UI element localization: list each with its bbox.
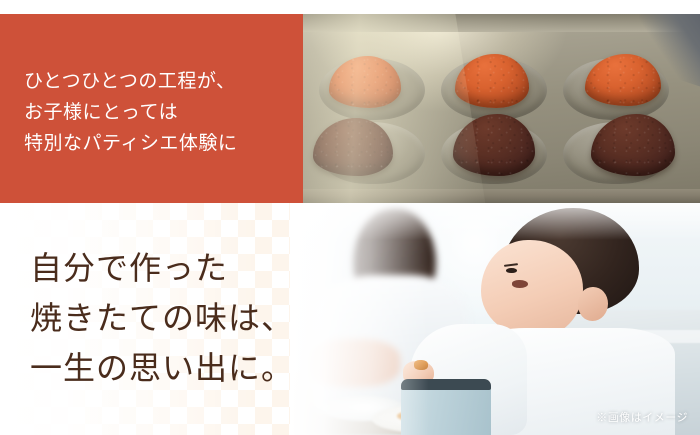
- copy-line-3: 特別なパティシエ体験に: [24, 128, 295, 159]
- copy-line-2: お子様にとっては: [24, 97, 295, 128]
- boy-face: [481, 240, 583, 337]
- boy-ear: [578, 287, 609, 322]
- madeleine-baking-tray-photo: [303, 14, 700, 203]
- headline-line-3: 一生の思い出に。: [30, 343, 330, 393]
- copy-panel-text-block: ひとつひとつの工程が、 お子様にとっては 特別なパティシエ体験に: [24, 66, 295, 159]
- boy-eating-madeleine-photo: [290, 203, 700, 435]
- copy-line-1: ひとつひとつの工程が、: [24, 66, 295, 97]
- boy-mouth: [512, 280, 528, 288]
- promo-banner: ひとつひとつの工程が、 お子様にとっては 特別なパティシエ体験に 自分で作った …: [0, 0, 700, 435]
- orange-copy-panel: ひとつひとつの工程が、 お子様にとっては 特別なパティシエ体験に: [0, 14, 303, 203]
- headline-line-2: 焼きたての味は、: [30, 293, 330, 343]
- boy-eyebrow: [504, 264, 518, 268]
- headline-block: 自分で作った 焼きたての味は、 一生の思い出に。: [30, 243, 330, 393]
- headline-line-1: 自分で作った: [30, 243, 330, 293]
- boy-eye: [506, 268, 517, 273]
- image-disclaimer: ※画像はイメージ: [596, 409, 688, 425]
- baking-tray-bottom-rim: [303, 189, 700, 203]
